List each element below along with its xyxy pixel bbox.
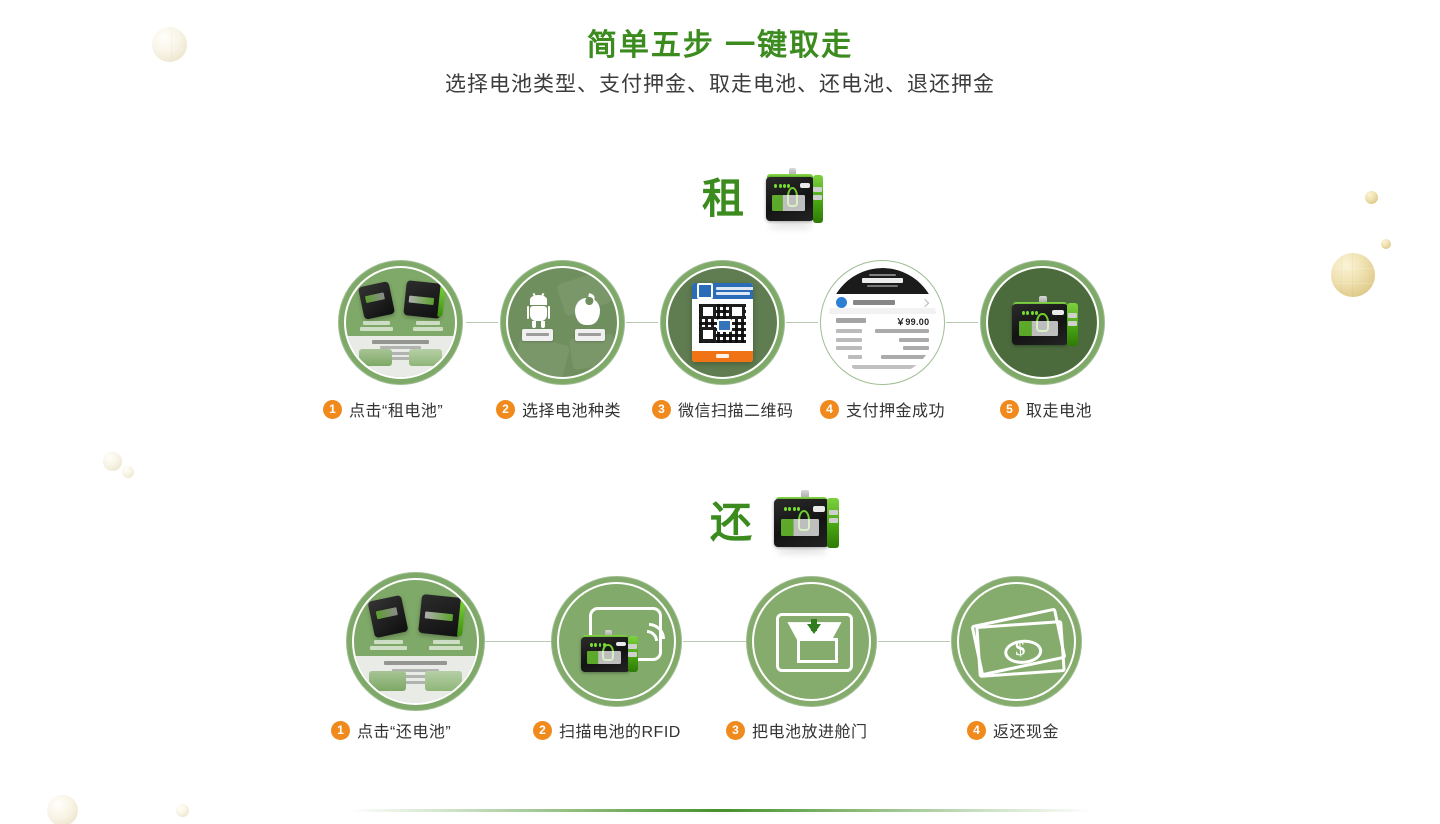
connector-line bbox=[786, 322, 818, 323]
step-number-badge: 3 bbox=[652, 400, 671, 419]
os-select-screen bbox=[508, 268, 617, 377]
step-label: 扫描电池的RFID bbox=[559, 718, 681, 742]
step-caption-return-4: 4 返还现金 bbox=[967, 718, 1059, 742]
decor-sphere-right-small-a bbox=[1365, 191, 1378, 204]
decor-sphere-left-mid-b bbox=[122, 466, 134, 478]
step-circle-return-2[interactable] bbox=[551, 576, 682, 707]
step-caption-rent-2: 2 选择电池种类 bbox=[496, 397, 621, 421]
decor-sphere-bottom-left bbox=[47, 795, 78, 824]
section-header-return: 还 bbox=[710, 490, 840, 556]
down-arrow-icon bbox=[807, 624, 821, 634]
step-circle-return-4[interactable]: $ bbox=[951, 576, 1082, 707]
power-bank-illustration-return bbox=[770, 490, 840, 556]
connector-line bbox=[484, 641, 552, 642]
decor-sphere-right-small-b bbox=[1381, 239, 1391, 249]
os-tag-apple[interactable] bbox=[575, 329, 606, 341]
scan-frame-icon bbox=[697, 283, 713, 299]
step-caption-return-1: 1 点击“还电池” bbox=[331, 718, 451, 742]
app-select-screen bbox=[346, 268, 455, 377]
android-icon bbox=[527, 295, 551, 323]
step-label: 选择电池种类 bbox=[522, 397, 621, 421]
step-caption-rent-3: 3 微信扫描二维码 bbox=[652, 397, 794, 421]
qr-pay-button[interactable] bbox=[692, 351, 753, 362]
step-circle-return-1[interactable] bbox=[346, 572, 485, 711]
step-number-badge: 3 bbox=[726, 721, 745, 740]
qr-header bbox=[692, 283, 753, 299]
page-title: 简单五步 一键取走 bbox=[0, 20, 1440, 64]
os-tag-android[interactable] bbox=[522, 329, 553, 341]
bottom-divider bbox=[348, 809, 1093, 812]
step-number-badge: 2 bbox=[496, 400, 515, 419]
step-label: 支付押金成功 bbox=[846, 397, 945, 421]
deposit-slot-icon bbox=[754, 584, 869, 699]
step-circle-rent-3[interactable] bbox=[660, 260, 785, 385]
step-label: 微信扫描二维码 bbox=[678, 397, 794, 421]
step-circle-rent-1[interactable] bbox=[338, 260, 463, 385]
step-label: 把电池放进舱门 bbox=[752, 718, 868, 742]
step-caption-rent-4: 4 支付押金成功 bbox=[820, 397, 945, 421]
chevron-right-icon bbox=[921, 299, 929, 307]
app-button-left[interactable] bbox=[369, 671, 406, 691]
section-header-rent: 租 bbox=[702, 168, 824, 230]
connector-line bbox=[466, 322, 498, 323]
decor-sphere-bottom-left-small bbox=[176, 804, 189, 817]
connector-line bbox=[878, 641, 950, 642]
step-number-badge: 5 bbox=[1000, 400, 1019, 419]
step-circle-rent-2[interactable] bbox=[500, 260, 625, 385]
step-circle-rent-4[interactable]: ￥99.00 bbox=[820, 260, 945, 385]
step-circle-rent-5[interactable] bbox=[980, 260, 1105, 385]
app-select-screen bbox=[354, 580, 477, 703]
step-circle-return-3[interactable] bbox=[746, 576, 877, 707]
apple-icon bbox=[575, 294, 600, 325]
app-button-right[interactable] bbox=[409, 349, 442, 366]
step-label: 取走电池 bbox=[1026, 397, 1092, 421]
cash-back-icon: $ bbox=[959, 584, 1074, 699]
device-thumb-b bbox=[403, 280, 443, 319]
step-label: 返还现金 bbox=[993, 718, 1059, 742]
payment-amount: ￥99.00 bbox=[896, 315, 929, 328]
step-number-badge: 1 bbox=[323, 400, 342, 419]
section-char-return: 还 bbox=[710, 502, 752, 544]
device-thumb-b bbox=[418, 594, 464, 638]
wechat-qr-screen bbox=[668, 268, 777, 377]
step-caption-rent-5: 5 取走电池 bbox=[1000, 397, 1092, 421]
page-root: 简单五步 一键取走 选择电池类型、支付押金、取走电池、还电池、退还押金 租 bbox=[0, 0, 1440, 824]
step-caption-rent-1: 1 点击“租电池” bbox=[323, 397, 443, 421]
payment-detail-screen: ￥99.00 bbox=[828, 268, 937, 377]
dollar-sign-icon: $ bbox=[1015, 639, 1026, 660]
app-button-left[interactable] bbox=[359, 349, 392, 366]
connector-line bbox=[626, 322, 658, 323]
step-caption-return-2: 2 扫描电池的RFID bbox=[533, 718, 681, 742]
connector-line bbox=[946, 322, 978, 323]
merchant-row bbox=[836, 297, 895, 308]
rfid-scan-icon bbox=[559, 584, 674, 699]
step-label: 点击“租电池” bbox=[349, 397, 443, 421]
step-number-badge: 4 bbox=[820, 400, 839, 419]
connector-line bbox=[683, 641, 746, 642]
power-bank-photo bbox=[988, 268, 1097, 377]
decor-sphere-right-large bbox=[1331, 253, 1375, 297]
decor-sphere-left-mid-a bbox=[103, 452, 122, 471]
step-number-badge: 4 bbox=[967, 721, 986, 740]
qr-code-image bbox=[699, 304, 745, 343]
step-caption-return-3: 3 把电池放进舱门 bbox=[726, 718, 868, 742]
step-label: 点击“还电池” bbox=[357, 718, 451, 742]
power-bank-illustration-rent bbox=[762, 168, 824, 230]
step-number-badge: 2 bbox=[533, 721, 552, 740]
section-char-rent: 租 bbox=[702, 178, 744, 220]
app-button-right[interactable] bbox=[425, 671, 462, 691]
step-number-badge: 1 bbox=[331, 721, 350, 740]
page-subtitle: 选择电池类型、支付押金、取走电池、还电池、退还押金 bbox=[0, 68, 1440, 98]
merchant-avatar bbox=[836, 297, 847, 308]
